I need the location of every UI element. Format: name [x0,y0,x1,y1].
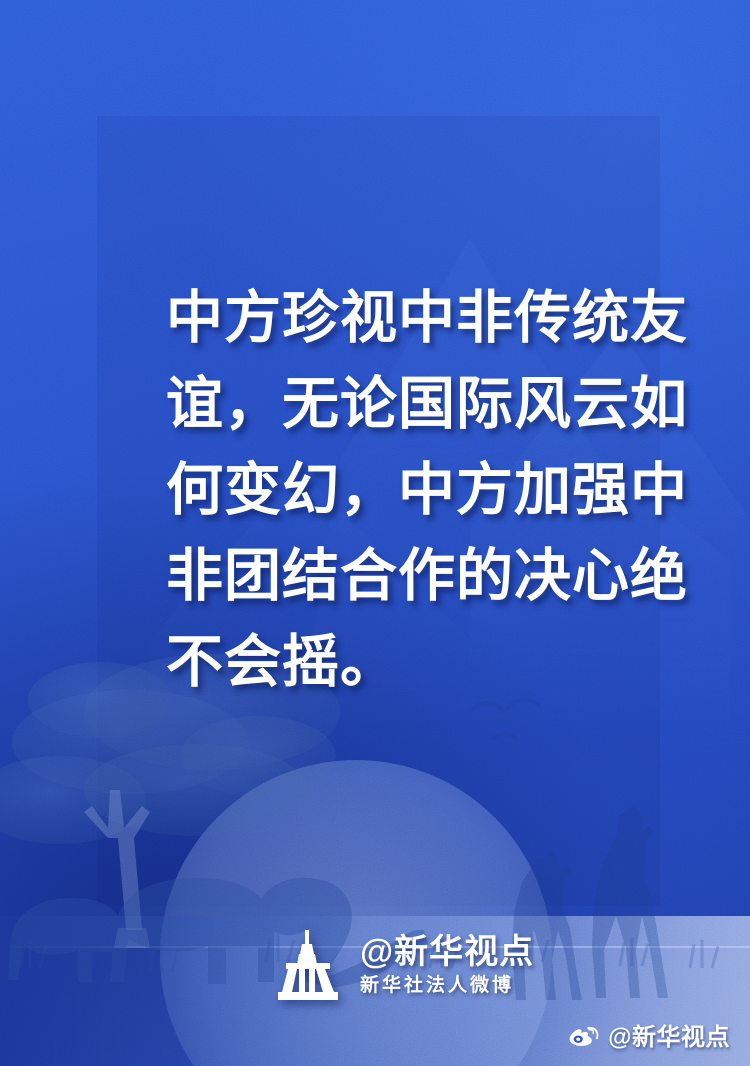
headline-block: 中方珍视中非传统友 谊，无论国际风云如 何变幻，中方加强中 非团结合作的决心绝 … [166,276,636,706]
giraffe-pair [512,806,668,1000]
headline-line-3: 何变幻，中方加强中 [166,448,636,534]
xinhua-shidian-monument-icon [272,930,346,1002]
headline-line-4: 非团结合作的决心绝 [166,534,636,620]
weibo-handle: @新华视点 [608,1017,730,1052]
poster-canvas: 中方珍视中非传统友 谊，无论国际风云如 何变幻，中方加强中 非团结合作的决心绝 … [0,0,750,1066]
xinhua-logo-lockup: @新华视点 新华社法人微博 [272,930,534,1002]
logo-title: @新华视点 [360,934,534,971]
headline-line-5: 不会摇。 [166,620,636,706]
headline-line-1: 中方珍视中非传统友 [166,276,636,362]
logo-text-block: @新华视点 新华社法人微博 [360,934,534,997]
headline-line-2: 谊，无论国际风云如 [166,362,636,448]
weibo-eye-icon [569,1022,599,1048]
weibo-badge[interactable]: @新华视点 [569,1017,730,1052]
logo-subtitle: 新华社法人微博 [360,974,534,998]
